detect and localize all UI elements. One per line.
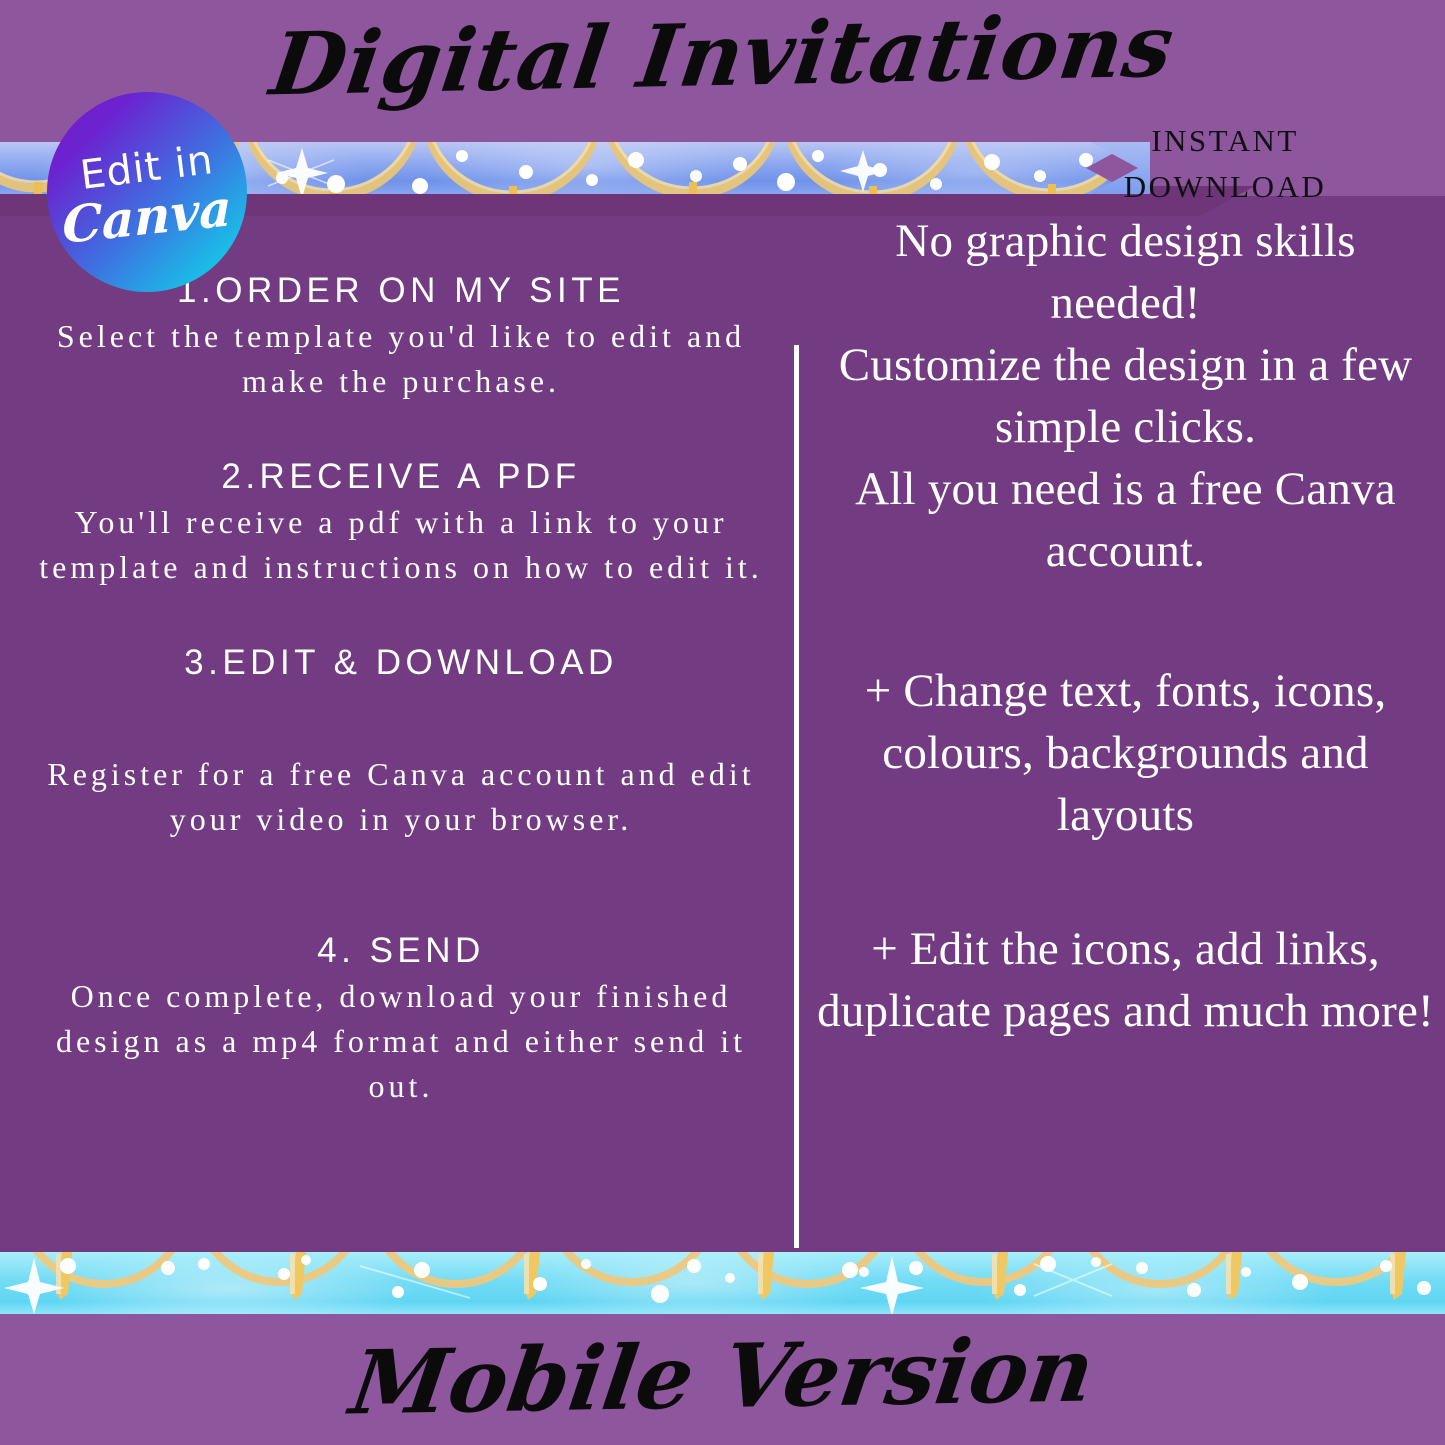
step-body: You'll receive a pdf with a link to your…: [22, 500, 780, 590]
step-heading: 3.EDIT & DOWNLOAD: [22, 640, 780, 686]
step-body: Register for a free Canva account and ed…: [22, 752, 780, 842]
content-area: 1.ORDER ON MY SITE Select the template y…: [0, 190, 1445, 1252]
step-body: Select the template you'd like to edit a…: [22, 314, 780, 404]
right-column-features: No graphic design skills needed! Customi…: [806, 190, 1445, 1252]
feature-block-change: + Change text, fonts, icons, colours, ba…: [816, 660, 1435, 846]
champagne-glasses-art-bottom: [0, 1252, 1445, 1314]
step-item: 2.RECEIVE A PDF You'll receive a pdf wit…: [22, 454, 780, 590]
feature-block-intro: No graphic design skills needed! Customi…: [816, 210, 1435, 582]
left-column-steps: 1.ORDER ON MY SITE Select the template y…: [8, 190, 794, 1252]
step-item: 4. SEND Once complete, download your fin…: [22, 928, 780, 1109]
step-heading: 4. SEND: [22, 928, 780, 974]
step-item: 3.EDIT & DOWNLOAD Register for a free Ca…: [22, 640, 780, 842]
step-heading: 2.RECEIVE A PDF: [22, 454, 780, 500]
step-body: Once complete, download your finished de…: [22, 974, 780, 1109]
column-divider: [794, 345, 799, 1248]
instant-download-label: INSTANT DOWNLOAD: [1075, 118, 1375, 210]
feature-block-edit: + Edit the icons, add links, duplicate p…: [816, 918, 1435, 1042]
edit-in-canva-badge[interactable]: Edit in Canva: [47, 92, 247, 292]
poster-canvas: Edit in Canva Digital Invitations INSTAN…: [0, 0, 1445, 1445]
bottom-champagne-banner: [0, 1252, 1445, 1314]
